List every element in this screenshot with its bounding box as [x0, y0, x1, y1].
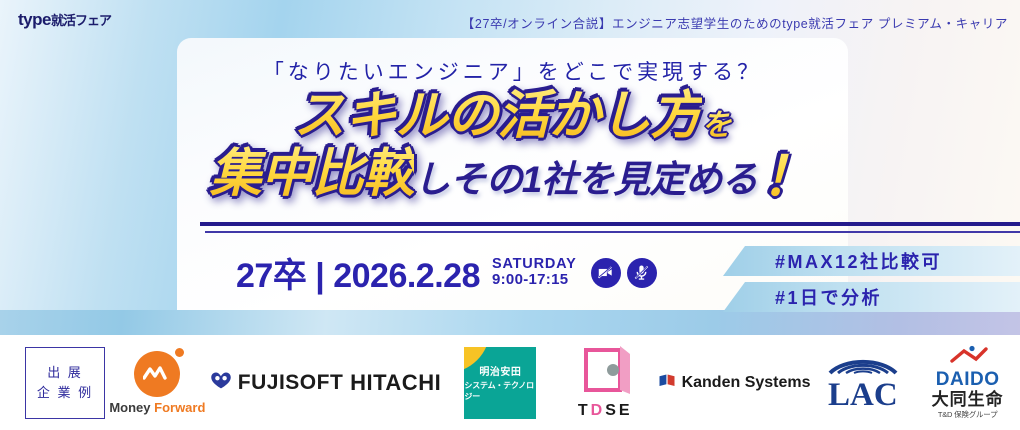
- money-forward-mark-icon: [134, 351, 180, 397]
- lac-text: LAC: [824, 380, 902, 411]
- top-bar: type就活フェア 【27卒/オンライン合説】エンジニア志望学生のためのtype…: [0, 0, 1020, 38]
- hashtag-ribbon-2-label: #1日で分析: [775, 284, 882, 310]
- divider-rule-thin: [205, 231, 1020, 233]
- hero-line-1: スキルの活かし方を: [177, 90, 848, 142]
- logo-money-forward[interactable]: Money Forward: [105, 335, 210, 430]
- hashtag-ribbon-1-label: #MAX12社比較可: [775, 248, 942, 274]
- kanden-mark-icon: [658, 371, 676, 394]
- event-date-main: 27卒 | 2026.2.28: [236, 248, 480, 297]
- event-banner: type就活フェア 【27卒/オンライン合説】エンジニア志望学生のためのtype…: [0, 0, 1020, 430]
- money-forward-text-a: Money: [109, 400, 150, 415]
- tdse-letters-se: SE: [605, 402, 632, 419]
- logo-main-text: type: [18, 10, 51, 29]
- logo-meiji-yasuda-system-technology[interactable]: 明治安田 システム・テクノロジー: [448, 335, 553, 430]
- event-date-sub: SATURDAY 9:00-17:15: [492, 256, 577, 289]
- daido-group-text: T&D 保険グループ: [932, 411, 1004, 419]
- money-forward-text-b: Forward: [154, 400, 205, 415]
- meiji-yasuda-line1: 明治安田: [479, 363, 521, 378]
- event-date-row: 27卒 | 2026.2.28 SATURDAY 9:00-17:15: [236, 248, 663, 297]
- exhibit-label-line1: 出 展: [47, 363, 83, 383]
- exhibit-label-line2: 企 業 例: [37, 383, 93, 403]
- hero-headline-area: 「なりたいエンジニア」をどこで実現する？ スキルの活かし方を 集中比較しその1社…: [177, 44, 848, 204]
- logo-fujisoft[interactable]: FUJISOFT: [210, 335, 344, 430]
- daido-jp-text: 大同生命: [932, 391, 1004, 410]
- event-time: 9:00-17:15: [492, 272, 577, 289]
- fujisoft-text: FUJISOFT: [238, 371, 344, 395]
- hashtag-ribbon-2: #1日で分析: [723, 282, 1020, 312]
- hero-line2-navy: しその1社を見定める: [414, 159, 758, 200]
- type-shukatsu-fair-logo[interactable]: type就活フェア: [18, 10, 111, 30]
- meiji-yasuda-line2: システム・テクノロジー: [464, 380, 536, 402]
- logo-kanden-systems[interactable]: Kanden Systems: [658, 335, 811, 430]
- camera-off-icon: [591, 258, 621, 288]
- logo-daido-life[interactable]: DAIDO 大同生命 T&D 保険グループ: [915, 335, 1020, 430]
- hero-line1-yellow: スキルの活かし方: [293, 87, 701, 145]
- hero-line-2: 集中比較しその1社を見定める！: [177, 148, 848, 204]
- hero-lead-text: 「なりたいエンジニア」をどこで実現する？: [177, 56, 848, 86]
- logo-hitachi[interactable]: HITACHI: [343, 335, 448, 430]
- hero-line1-small: を: [702, 109, 732, 142]
- hero-line2-yellow: 集中比較: [210, 145, 414, 203]
- event-mode-icons: [591, 258, 663, 288]
- hashtag-ribbons: #MAX12社比較可 #1日で分析: [723, 246, 1020, 318]
- fujisoft-mark-icon: [210, 370, 232, 395]
- lac-arc-icon: [824, 353, 902, 375]
- sponsor-logo-strip: 出 展 企 業 例 Money Forward: [0, 335, 1020, 430]
- event-weekday: SATURDAY: [492, 256, 577, 272]
- hero-line2-exclamation: ！: [761, 147, 815, 207]
- logo-tdse[interactable]: TDSE: [553, 335, 658, 430]
- exhibit-companies-label: 出 展 企 業 例: [25, 347, 105, 419]
- daido-en-text: DAIDO: [932, 370, 1004, 391]
- hitachi-text: HITACHI: [350, 370, 441, 396]
- logo-lac[interactable]: LAC: [811, 335, 916, 430]
- kanden-systems-text: Kanden Systems: [682, 374, 811, 392]
- tdse-door-icon: [578, 346, 632, 396]
- logo-jp-text: 就活フェア: [51, 13, 111, 28]
- daido-figure-icon: [942, 345, 994, 365]
- tdse-letter-t: T: [578, 402, 591, 419]
- mic-off-icon: [627, 258, 657, 288]
- top-caption: 【27卒/オンライン合説】エンジニア志望学生のためのtype就活フェア プレミア…: [462, 13, 1008, 32]
- tdse-letter-d: D: [591, 402, 606, 419]
- divider-rule-thick: [200, 222, 1020, 226]
- hashtag-ribbon-1: #MAX12社比較可: [723, 246, 1020, 276]
